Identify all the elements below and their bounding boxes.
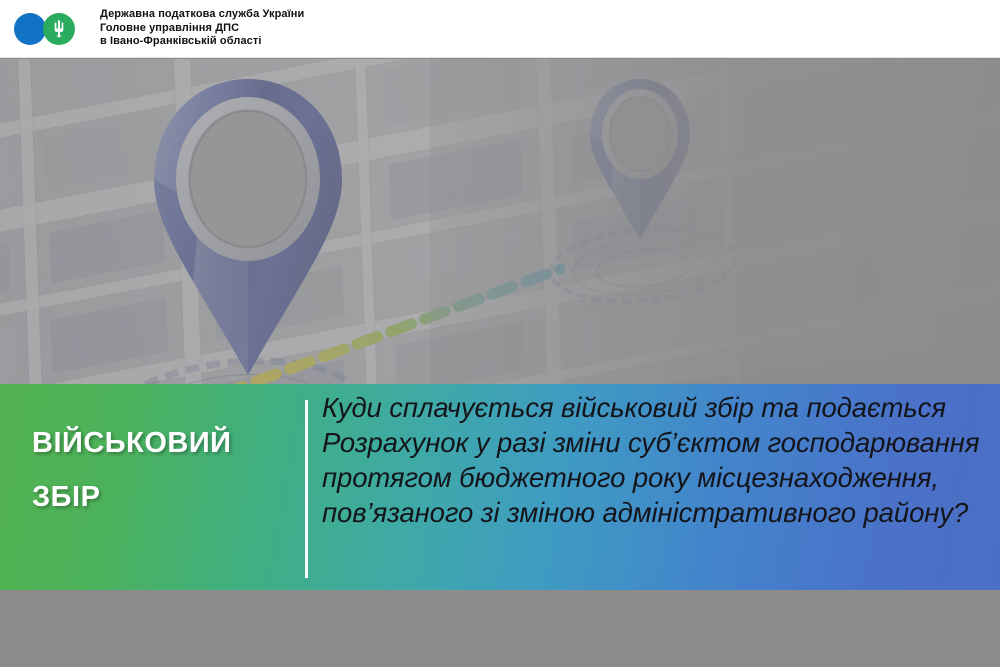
- bottom-strip: [0, 590, 1000, 667]
- dps-logo-blue-circle: [14, 13, 46, 45]
- site-header: Державна податкова служба України Головн…: [0, 0, 1000, 58]
- organization-name: Державна податкова служба України Головн…: [100, 8, 304, 49]
- map-pin-large: [150, 77, 346, 407]
- ukraine-trident-icon: [50, 19, 68, 39]
- dps-logo-green-circle: [43, 13, 75, 45]
- infographic-page: Державна податкова служба України Головн…: [0, 0, 1000, 667]
- banner-title: ВІЙСЬКОВИЙ ЗБІР: [32, 416, 282, 524]
- topic-banner: ВІЙСЬКОВИЙ ЗБІР Куди сплачується військо…: [0, 384, 1000, 590]
- org-line-1: Державна податкова служба України: [100, 8, 304, 22]
- dps-logo[interactable]: [14, 12, 80, 46]
- org-line-2: Головне управління ДПС: [100, 22, 304, 36]
- banner-title-line-2: ЗБІР: [32, 470, 282, 524]
- map-pin-small: [588, 77, 692, 257]
- banner-vertical-divider: [305, 400, 308, 578]
- org-line-3: в Івано-Франківській області: [100, 35, 304, 49]
- banner-title-line-1: ВІЙСЬКОВИЙ: [32, 427, 232, 459]
- banner-question-text: Куди сплачується військовий збір та пода…: [322, 390, 982, 530]
